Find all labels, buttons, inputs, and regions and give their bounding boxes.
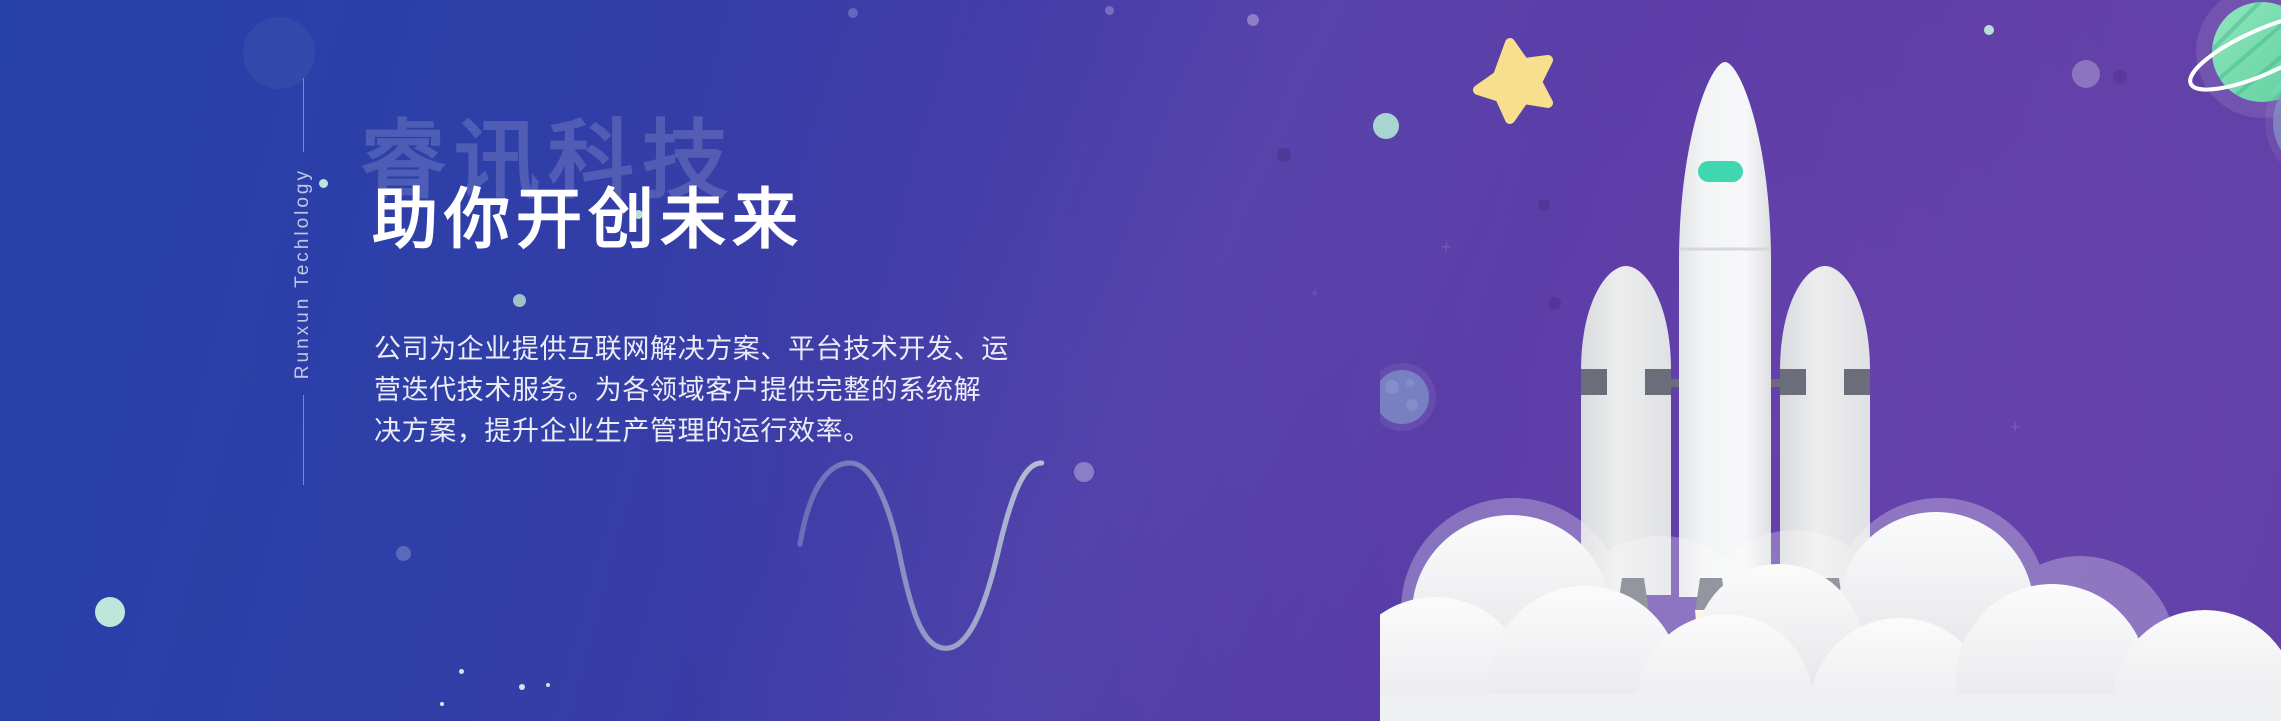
- plus-star: +: [1311, 286, 1319, 299]
- page-title: 助你开创未来: [372, 186, 804, 252]
- shadow-dot: [1277, 148, 1291, 162]
- mint-dot: [440, 702, 444, 706]
- mint-dot: [546, 683, 550, 687]
- mint-dot: [459, 669, 464, 674]
- brand-vertical-text: Runxun Techlology: [292, 168, 314, 379]
- mint-dot: [519, 684, 525, 690]
- mint-dot: [513, 294, 526, 307]
- rocket-main-body: [1679, 62, 1771, 597]
- lavender-dot: [848, 8, 858, 18]
- star-icon: [1478, 43, 1548, 119]
- lavender-dot: [396, 546, 411, 561]
- rocket-window: [1698, 161, 1743, 182]
- sine-wave: [600, 440, 1250, 690]
- hero-banner: + + + + Runxun Techlology 睿讯科技 助你开创未来 公司…: [0, 0, 2281, 721]
- mint-dot: [319, 179, 328, 188]
- description-line: 公司为企业提供互联网解决方案、平台技术开发、运: [374, 329, 1184, 370]
- rocket-scene: [1380, 0, 2281, 721]
- small-moon-icon: [1380, 363, 1436, 431]
- description-line: 营迭代技术服务。为各领域客户提供完整的系统解: [374, 370, 1184, 411]
- rail-rule-top: [303, 78, 304, 152]
- mint-dot: [95, 597, 125, 627]
- rail-rule-bottom: [303, 395, 304, 485]
- brand-rail: Runxun Techlology: [288, 78, 318, 598]
- lavender-dot: [1105, 6, 1114, 15]
- description-paragraph: 公司为企业提供互联网解决方案、平台技术开发、运 营迭代技术服务。为各领域客户提供…: [374, 329, 1184, 452]
- lavender-dot: [1247, 14, 1259, 26]
